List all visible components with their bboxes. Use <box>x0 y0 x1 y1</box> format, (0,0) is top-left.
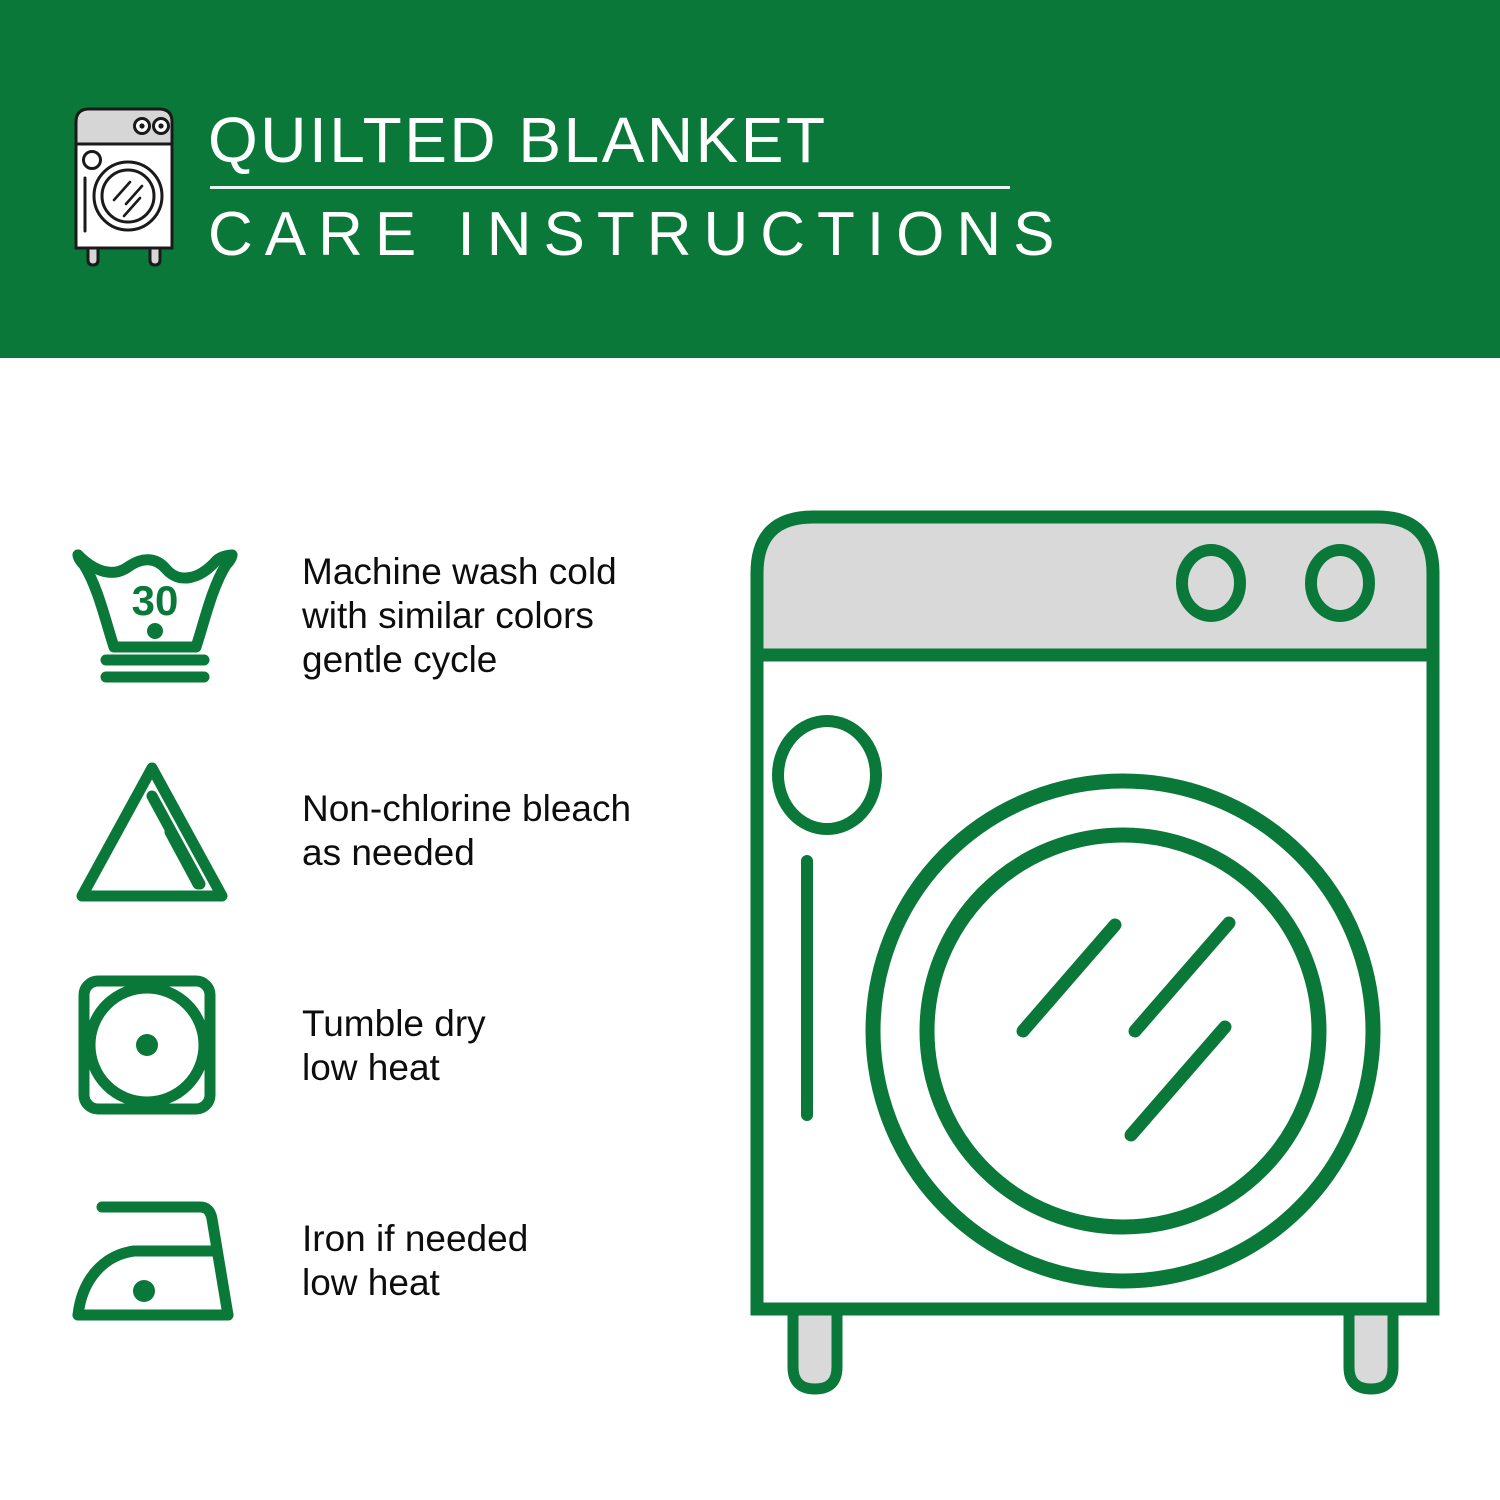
washing-machine-icon <box>62 100 186 268</box>
tumble-dry-low-icon <box>70 971 245 1121</box>
care-row-machine-wash: 30 Machine wash cold with similar colors… <box>70 508 710 723</box>
washer-leg-left <box>793 1303 837 1389</box>
care-row-bleach: Non-chlorine bleach as needed <box>70 723 710 938</box>
page-subtitle: CARE INSTRUCTIONS <box>208 201 1066 269</box>
washer-knob-1 <box>1182 550 1240 616</box>
title-divider <box>210 186 1010 189</box>
washer-indicator-light <box>778 721 876 829</box>
machine-wash-30-gentle-icon: 30 <box>70 541 245 691</box>
wash-temperature-value: 30 <box>132 577 179 624</box>
care-label-bleach: Non-chlorine bleach as needed <box>302 787 631 875</box>
page-title: QUILTED BLANKET <box>208 104 1066 176</box>
washer-knob-2 <box>1311 550 1369 616</box>
care-row-iron: Iron if needed low heat <box>70 1153 710 1368</box>
care-row-tumble-dry: Tumble dry low heat <box>70 938 710 1153</box>
content-area: 30 Machine wash cold with similar colors… <box>0 358 1500 1500</box>
care-label-tumble-dry: Tumble dry low heat <box>302 1002 486 1090</box>
care-label-iron: Iron if needed low heat <box>302 1217 528 1305</box>
header-content: QUILTED BLANKET CARE INSTRUCTIONS <box>62 100 1066 269</box>
header-titles: QUILTED BLANKET CARE INSTRUCTIONS <box>208 100 1066 269</box>
care-label-machine-wash: Machine wash cold with similar colors ge… <box>302 550 617 682</box>
header-banner: QUILTED BLANKET CARE INSTRUCTIONS <box>0 0 1500 358</box>
washer-leg-right <box>1349 1303 1393 1389</box>
washing-machine-illustration <box>745 503 1445 1423</box>
non-chlorine-bleach-icon <box>70 756 245 906</box>
iron-low-heat-icon <box>70 1186 245 1336</box>
care-instructions-list: 30 Machine wash cold with similar colors… <box>70 508 710 1368</box>
